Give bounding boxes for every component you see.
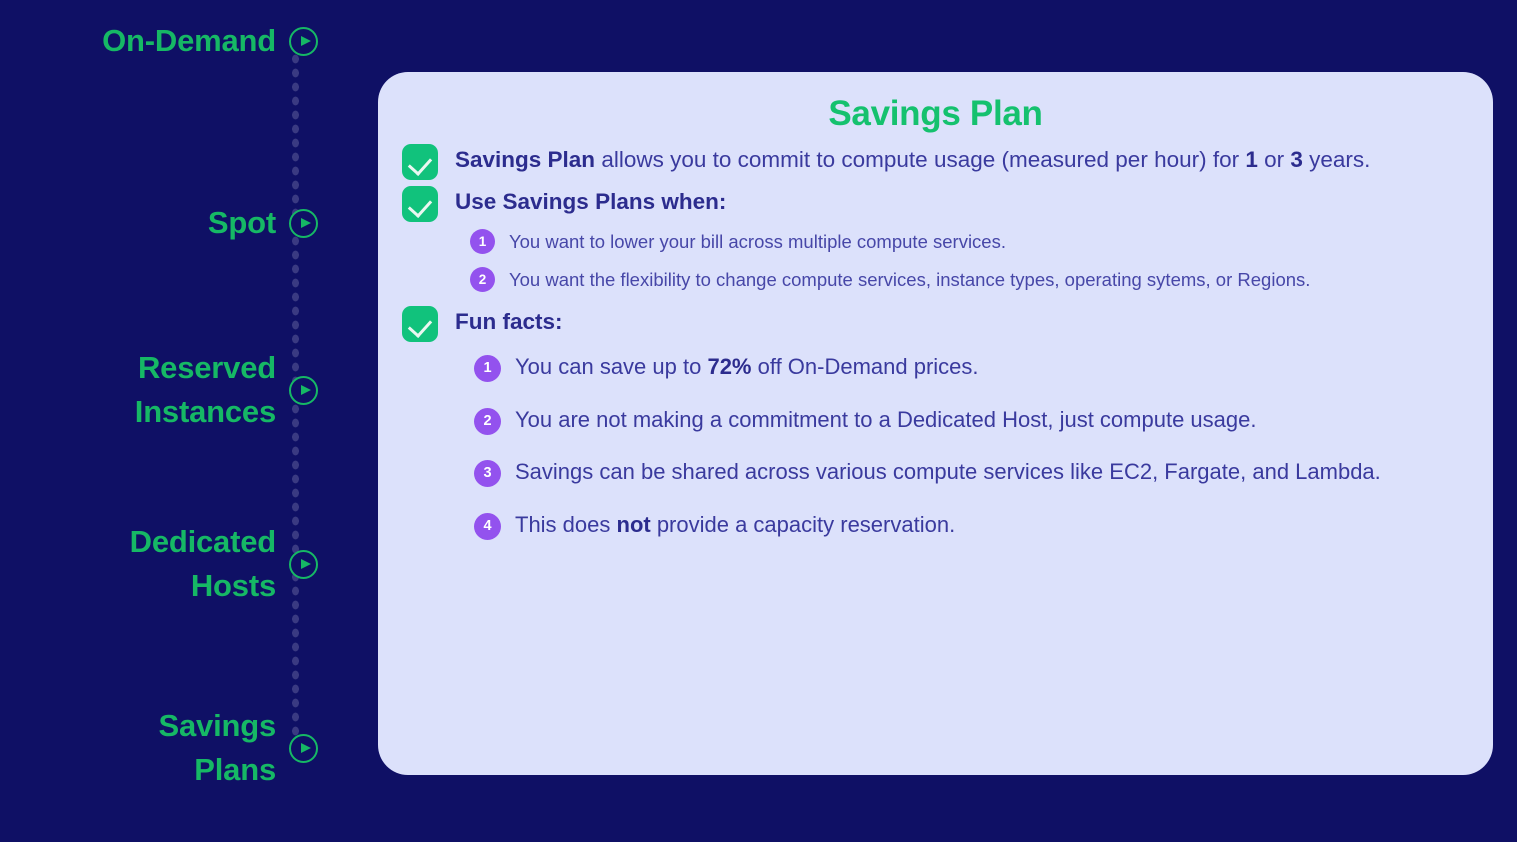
number-badge: 2 <box>474 408 501 435</box>
play-circle-icon[interactable] <box>289 734 318 763</box>
use-when-list: 1 You want to lower your bill across mul… <box>470 228 1469 294</box>
play-circle-icon[interactable] <box>289 209 318 238</box>
bullet-row-fun-facts: Fun facts: <box>402 304 1469 342</box>
timeline-item-reserved-instances[interactable]: Reserved Instances <box>0 346 318 434</box>
timeline-item-label: Reserved Instances <box>135 346 276 434</box>
list-item: 2 You are not making a commitment to a D… <box>474 405 1469 436</box>
check-square-icon <box>402 186 438 222</box>
check-square-icon <box>402 144 438 180</box>
timeline-item-on-demand[interactable]: On-Demand <box>0 19 318 63</box>
list-item: 1 You can save up to 72% off On-Demand p… <box>474 352 1469 383</box>
check-square-icon <box>402 306 438 342</box>
fun-facts-list: 1 You can save up to 72% off On-Demand p… <box>474 352 1469 540</box>
list-item: 2 You want the flexibility to change com… <box>470 266 1469 294</box>
number-badge: 4 <box>474 513 501 540</box>
timeline-item-spot[interactable]: Spot <box>0 201 318 245</box>
list-item-text: Savings can be shared across various com… <box>515 457 1381 488</box>
fun-facts-heading: Fun facts: <box>455 304 563 337</box>
number-badge: 3 <box>474 460 501 487</box>
list-item-text: You can save up to 72% off On-Demand pri… <box>515 352 979 383</box>
bullet-row-use-when: Use Savings Plans when: <box>402 184 1469 222</box>
card-title: Savings Plan <box>402 94 1469 134</box>
list-item-text: This does not provide a capacity reserva… <box>515 510 955 541</box>
list-item: 3 Savings can be shared across various c… <box>474 457 1469 488</box>
definition-text: Savings Plan allows you to commit to com… <box>455 142 1370 175</box>
play-circle-icon[interactable] <box>289 550 318 579</box>
play-circle-icon[interactable] <box>289 376 318 405</box>
fun-facts-block: Fun facts: 1 You can save up to 72% off … <box>402 304 1469 540</box>
timeline-item-label: Spot <box>208 201 276 245</box>
list-item: 1 You want to lower your bill across mul… <box>470 228 1469 256</box>
list-item: 4 This does not provide a capacity reser… <box>474 510 1469 541</box>
timeline-item-label: On-Demand <box>102 19 276 63</box>
timeline-item-label: Dedicated Hosts <box>130 520 276 608</box>
pricing-models-timeline: On-Demand Spot Reserved Instances Dedica… <box>0 0 360 842</box>
number-badge: 1 <box>474 355 501 382</box>
number-badge: 2 <box>470 267 495 292</box>
use-when-block: Use Savings Plans when: 1 You want to lo… <box>402 184 1469 294</box>
use-when-heading: Use Savings Plans when: <box>455 184 726 217</box>
bullet-row-definition: Savings Plan allows you to commit to com… <box>402 142 1469 180</box>
list-item-text: You want the flexibility to change compu… <box>509 266 1310 294</box>
number-badge: 1 <box>470 229 495 254</box>
savings-plan-card: Savings Plan Savings Plan allows you to … <box>378 72 1493 775</box>
list-item-text: You are not making a commitment to a Ded… <box>515 405 1256 436</box>
timeline-item-dedicated-hosts[interactable]: Dedicated Hosts <box>0 520 318 608</box>
timeline-item-label: Savings Plans <box>159 704 276 792</box>
list-item-text: You want to lower your bill across multi… <box>509 228 1006 256</box>
play-circle-icon[interactable] <box>289 27 318 56</box>
timeline-item-savings-plans[interactable]: Savings Plans <box>0 704 318 792</box>
